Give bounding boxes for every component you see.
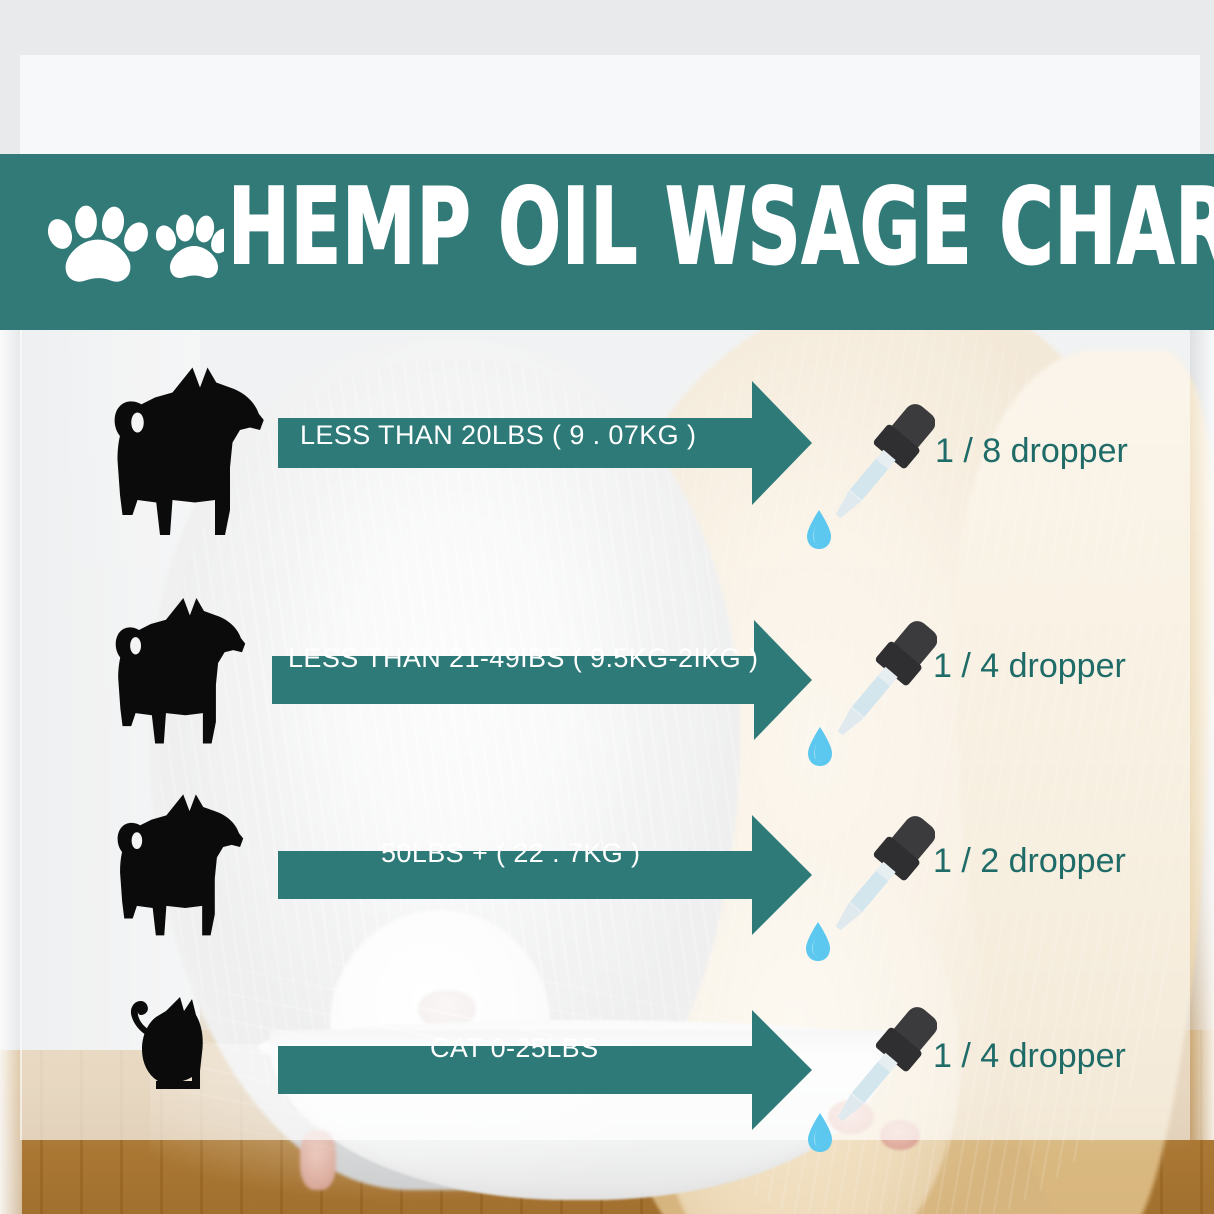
dosage-row: LESS THAN 20LBS ( 9 . 07KG ) 1 / 8 dropp… xyxy=(0,360,1214,560)
weight-label: CAT 0-25LBS xyxy=(430,1033,598,1064)
paw-print-large-icon xyxy=(42,204,155,283)
weight-arrow-svg xyxy=(278,993,812,1141)
hemp-oil-usage-chart-infographic: HEMP OIL WSAGE CHART xyxy=(0,0,1214,1214)
water-drop-icon xyxy=(802,508,836,552)
dog-silhouette-icon xyxy=(100,360,275,555)
weight-arrow-svg xyxy=(272,603,812,749)
paw-prints-group xyxy=(24,204,224,290)
dosage-row: LESS THAN 21-49IBS ( 9.5KG-2IKG ) 1 / 4 … xyxy=(0,555,1214,755)
dose-label: 1 / 2 dropper xyxy=(933,842,1126,881)
dog-silhouette-icon xyxy=(103,590,255,763)
dosage-row: CAT 0-25LBS 1 / 4 dropper xyxy=(0,945,1214,1145)
paw-print-small-icon xyxy=(152,214,224,278)
water-drop-svg xyxy=(803,1111,837,1155)
dog-silhouette-svg xyxy=(103,590,255,758)
cat-silhouette-icon xyxy=(108,985,220,1110)
dose-label: 1 / 4 dropper xyxy=(933,647,1126,686)
dose-label: 1 / 4 dropper xyxy=(933,1037,1126,1076)
weight-label: LESS THAN 20LBS ( 9 . 07KG ) xyxy=(300,420,696,451)
page-title: HEMP OIL WSAGE CHART xyxy=(228,176,1214,281)
paw-prints-svg xyxy=(24,204,224,290)
header-band: HEMP OIL WSAGE CHART xyxy=(0,154,1214,330)
top-blank-strip-inner xyxy=(20,55,1200,154)
water-drop-icon xyxy=(803,1111,837,1155)
dog-silhouette-svg xyxy=(105,788,253,948)
dog-silhouette-svg xyxy=(100,360,275,550)
dose-label: 1 / 8 dropper xyxy=(935,432,1128,471)
weight-arrow xyxy=(278,798,812,946)
weight-arrow xyxy=(272,603,812,749)
weight-label: LESS THAN 21-49IBS ( 9.5KG-2IKG ) xyxy=(288,643,758,674)
dosage-row: 50LBS + ( 22 . 7KG ) 1 / 2 dropper xyxy=(0,750,1214,950)
dog-silhouette-icon xyxy=(105,788,253,953)
weight-arrow-svg xyxy=(278,798,812,946)
top-blank-strip xyxy=(0,0,1214,154)
weight-arrow xyxy=(278,993,812,1141)
cat-silhouette-svg xyxy=(108,985,220,1105)
water-drop-svg xyxy=(802,508,836,552)
weight-label: 50LBS + ( 22 . 7KG ) xyxy=(381,838,640,869)
